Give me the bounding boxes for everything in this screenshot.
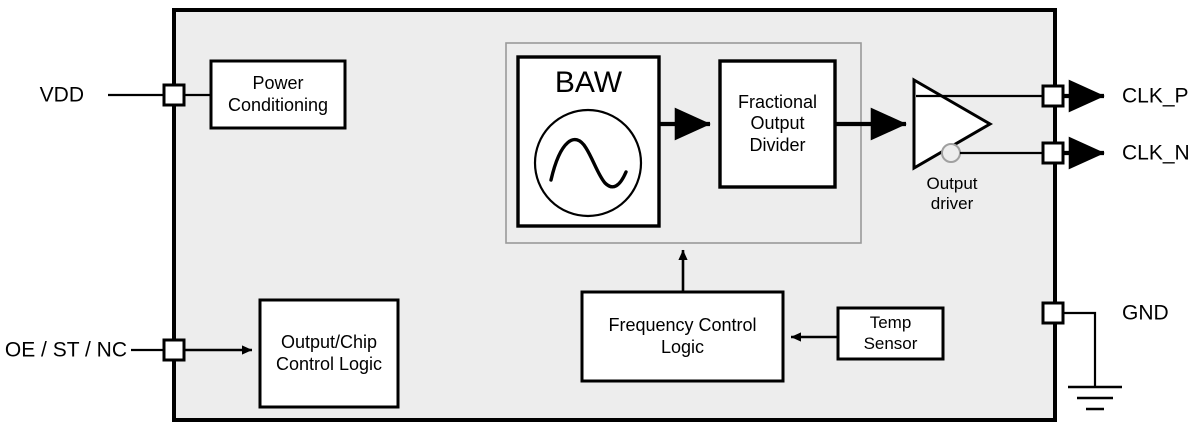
diagram-vector-layer [0, 0, 1200, 429]
block-temp-sensor[interactable] [838, 308, 943, 359]
block-diagram-canvas: VDD OE / ST / NC CLK_P CLK_N GND Power C… [0, 0, 1200, 429]
block-frequency-control-logic[interactable] [582, 292, 783, 381]
pin-pad-oe[interactable] [164, 340, 184, 360]
pin-label-vdd: VDD [40, 83, 84, 106]
block-power-conditioning[interactable] [211, 61, 345, 128]
gnd-external-wire [1063, 313, 1095, 386]
pin-pad-gnd[interactable] [1043, 303, 1063, 323]
block-output-chip-control-logic[interactable] [260, 300, 398, 407]
pin-label-gnd: GND [1122, 301, 1169, 324]
pin-pad-vdd[interactable] [164, 85, 184, 105]
inversion-bubble-icon [942, 144, 960, 162]
block-label-output-driver: Output driver [900, 174, 1004, 215]
block-fractional-output-divider[interactable] [720, 61, 835, 187]
pin-label-clk-p: CLK_P [1122, 84, 1189, 107]
earth-ground-icon [1068, 387, 1122, 409]
oscillator-circle-icon [535, 110, 641, 216]
pin-pad-clk-p[interactable] [1043, 86, 1063, 106]
pin-label-clk-n: CLK_N [1122, 141, 1190, 164]
pin-pad-clk-n[interactable] [1043, 143, 1063, 163]
pin-label-oe-st-nc: OE / ST / NC [5, 338, 127, 361]
